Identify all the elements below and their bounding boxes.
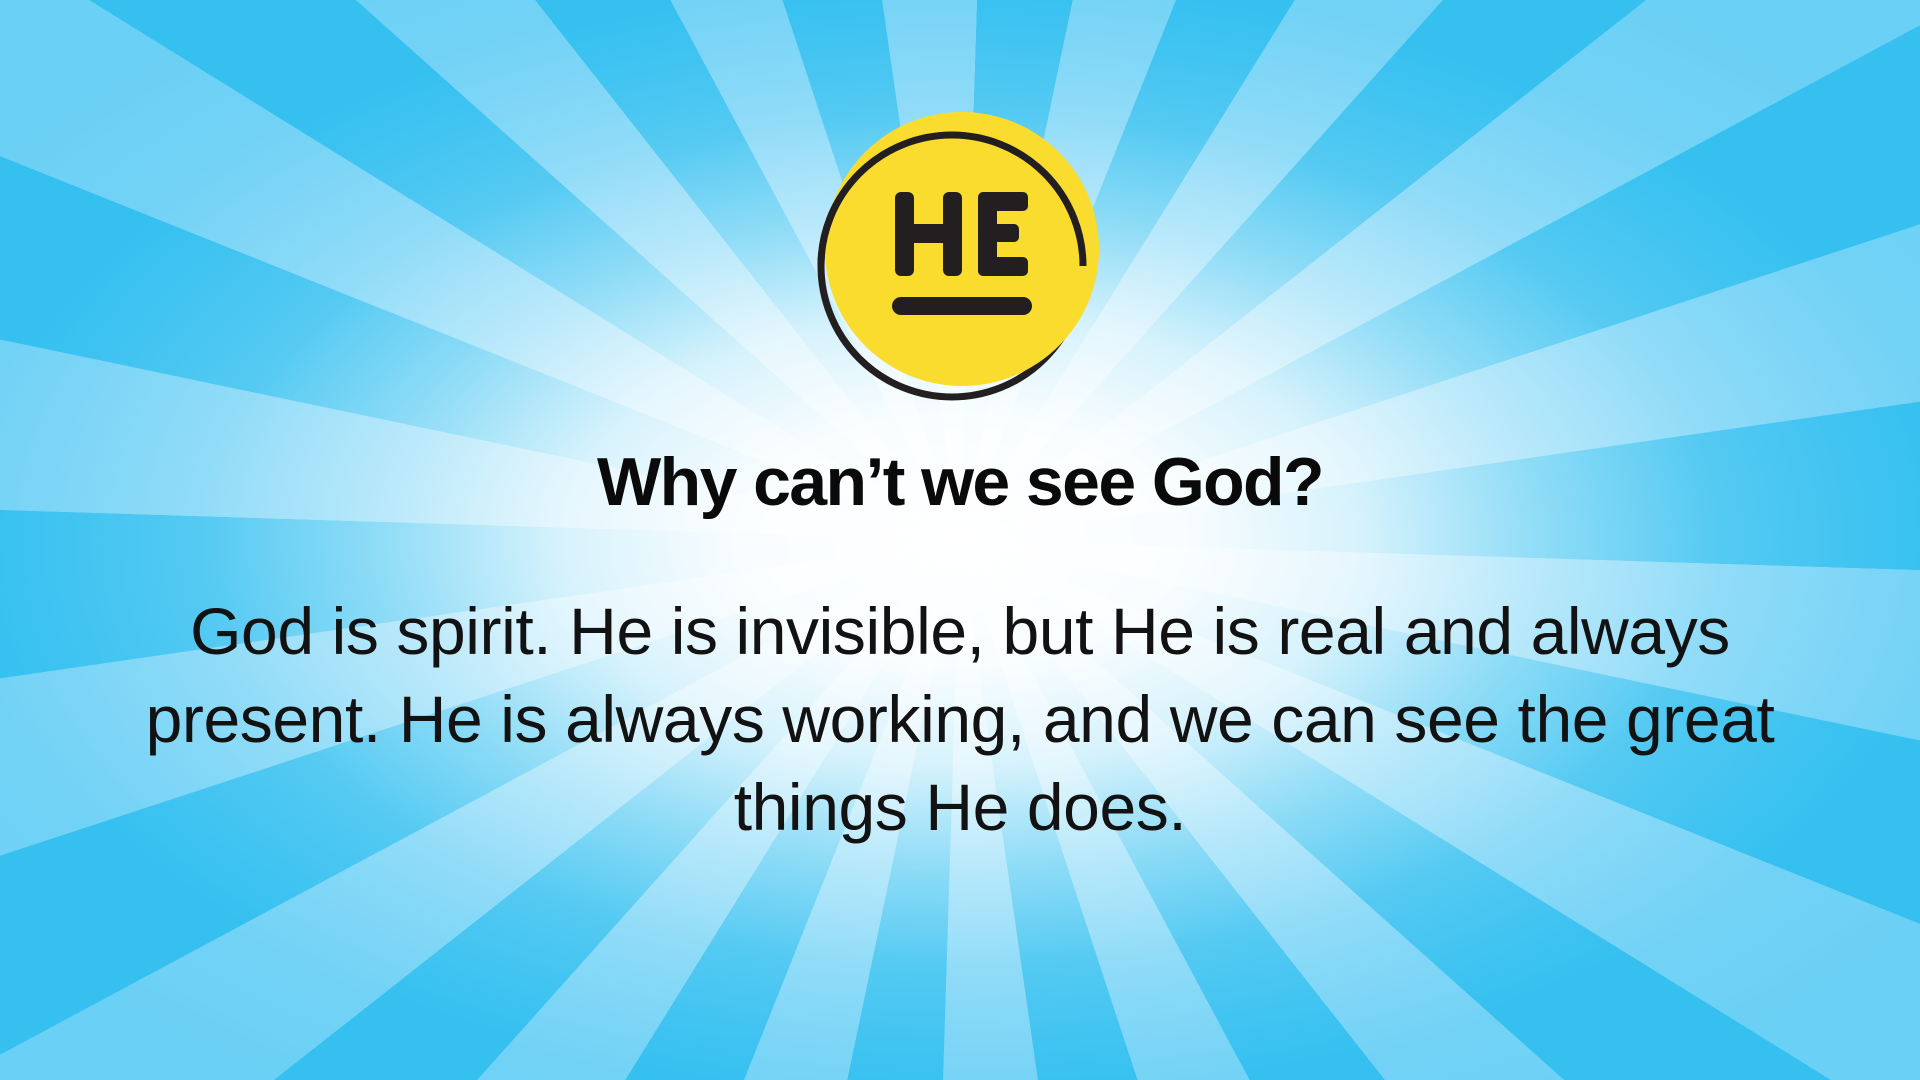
he-logo-badge <box>800 84 1120 424</box>
page-title: Why can’t we see God? <box>597 446 1323 518</box>
he-logo-icon <box>800 84 1120 424</box>
body-paragraph: God is spirit. He is invisible, but He i… <box>30 588 1890 851</box>
slide-content: Why can’t we see God? God is spirit. He … <box>0 0 1920 1080</box>
slide-canvas: Why can’t we see God? God is spirit. He … <box>0 0 1920 1080</box>
logo-underline-bar <box>892 297 1032 315</box>
